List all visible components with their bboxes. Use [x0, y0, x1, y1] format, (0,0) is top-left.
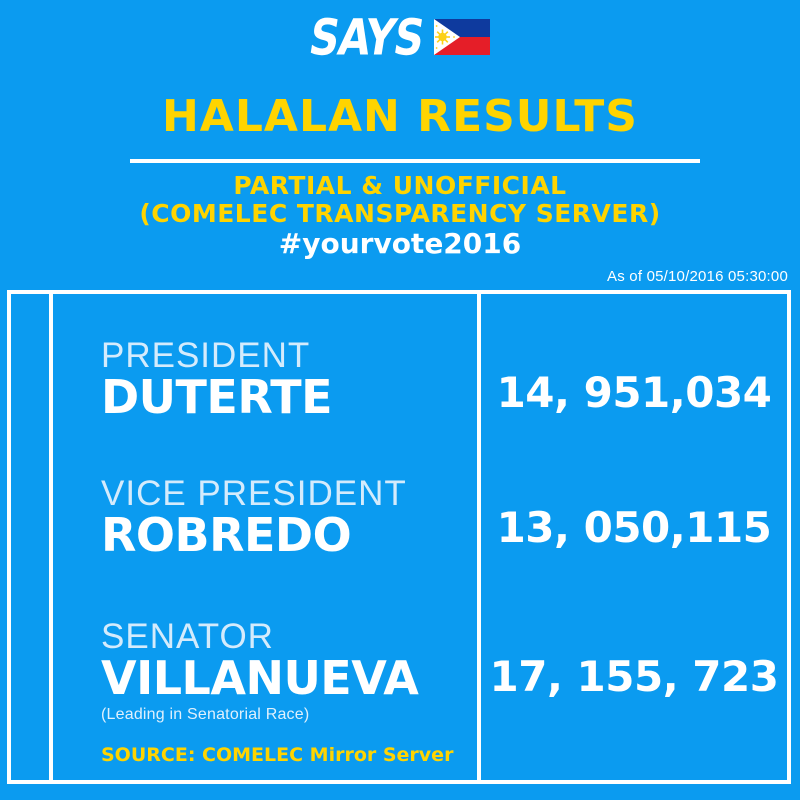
candidate-name: VILLANUEVA [101, 654, 418, 702]
subtitle-line-2: (COMELEC TRANSPARENCY SERVER) [0, 200, 800, 228]
table-votes-column: 14, 951,034 13, 050,115 17, 155, 723 [481, 294, 787, 780]
vote-count: 14, 951,034 [481, 372, 787, 414]
race-position-label: PRESIDENT [101, 338, 332, 375]
brand-logo: SAYS [306, 12, 427, 62]
table-row: VICE PRESIDENT ROBREDO [101, 476, 407, 559]
candidate-note: (Leading in Senatorial Race) [101, 705, 418, 724]
table-race-column: PRESIDENT DUTERTE VICE PRESIDENT ROBREDO… [53, 294, 481, 780]
campaign-hashtag: #yourvote2016 [0, 230, 800, 258]
results-table: PRESIDENT DUTERTE VICE PRESIDENT ROBREDO… [7, 290, 791, 784]
title-divider [130, 159, 700, 163]
infographic-canvas: SAYS HALALAN RESULTS PARTIAL & UNOF [0, 0, 800, 800]
table-row: PRESIDENT DUTERTE [101, 338, 332, 421]
race-position-label: SENATOR [101, 619, 418, 656]
table-row: SENATOR VILLANUEVA (Leading in Senatoria… [101, 619, 418, 724]
race-position-label: VICE PRESIDENT [101, 476, 407, 513]
table-left-gutter-column [11, 294, 53, 780]
page-title: HALALAN RESULTS [0, 95, 800, 139]
as-of-timestamp: As of 05/10/2016 05:30:00 [607, 268, 788, 285]
philippine-flag-icon [434, 19, 490, 55]
candidate-name: DUTERTE [101, 373, 332, 421]
brand-row: SAYS [0, 14, 800, 60]
source-label: SOURCE: COMELEC Mirror Server [101, 744, 453, 766]
subtitle-line-1: PARTIAL & UNOFFICIAL [0, 172, 800, 200]
vote-count: 17, 155, 723 [481, 656, 787, 698]
candidate-name: ROBREDO [101, 511, 407, 559]
vote-count: 13, 050,115 [481, 507, 787, 549]
